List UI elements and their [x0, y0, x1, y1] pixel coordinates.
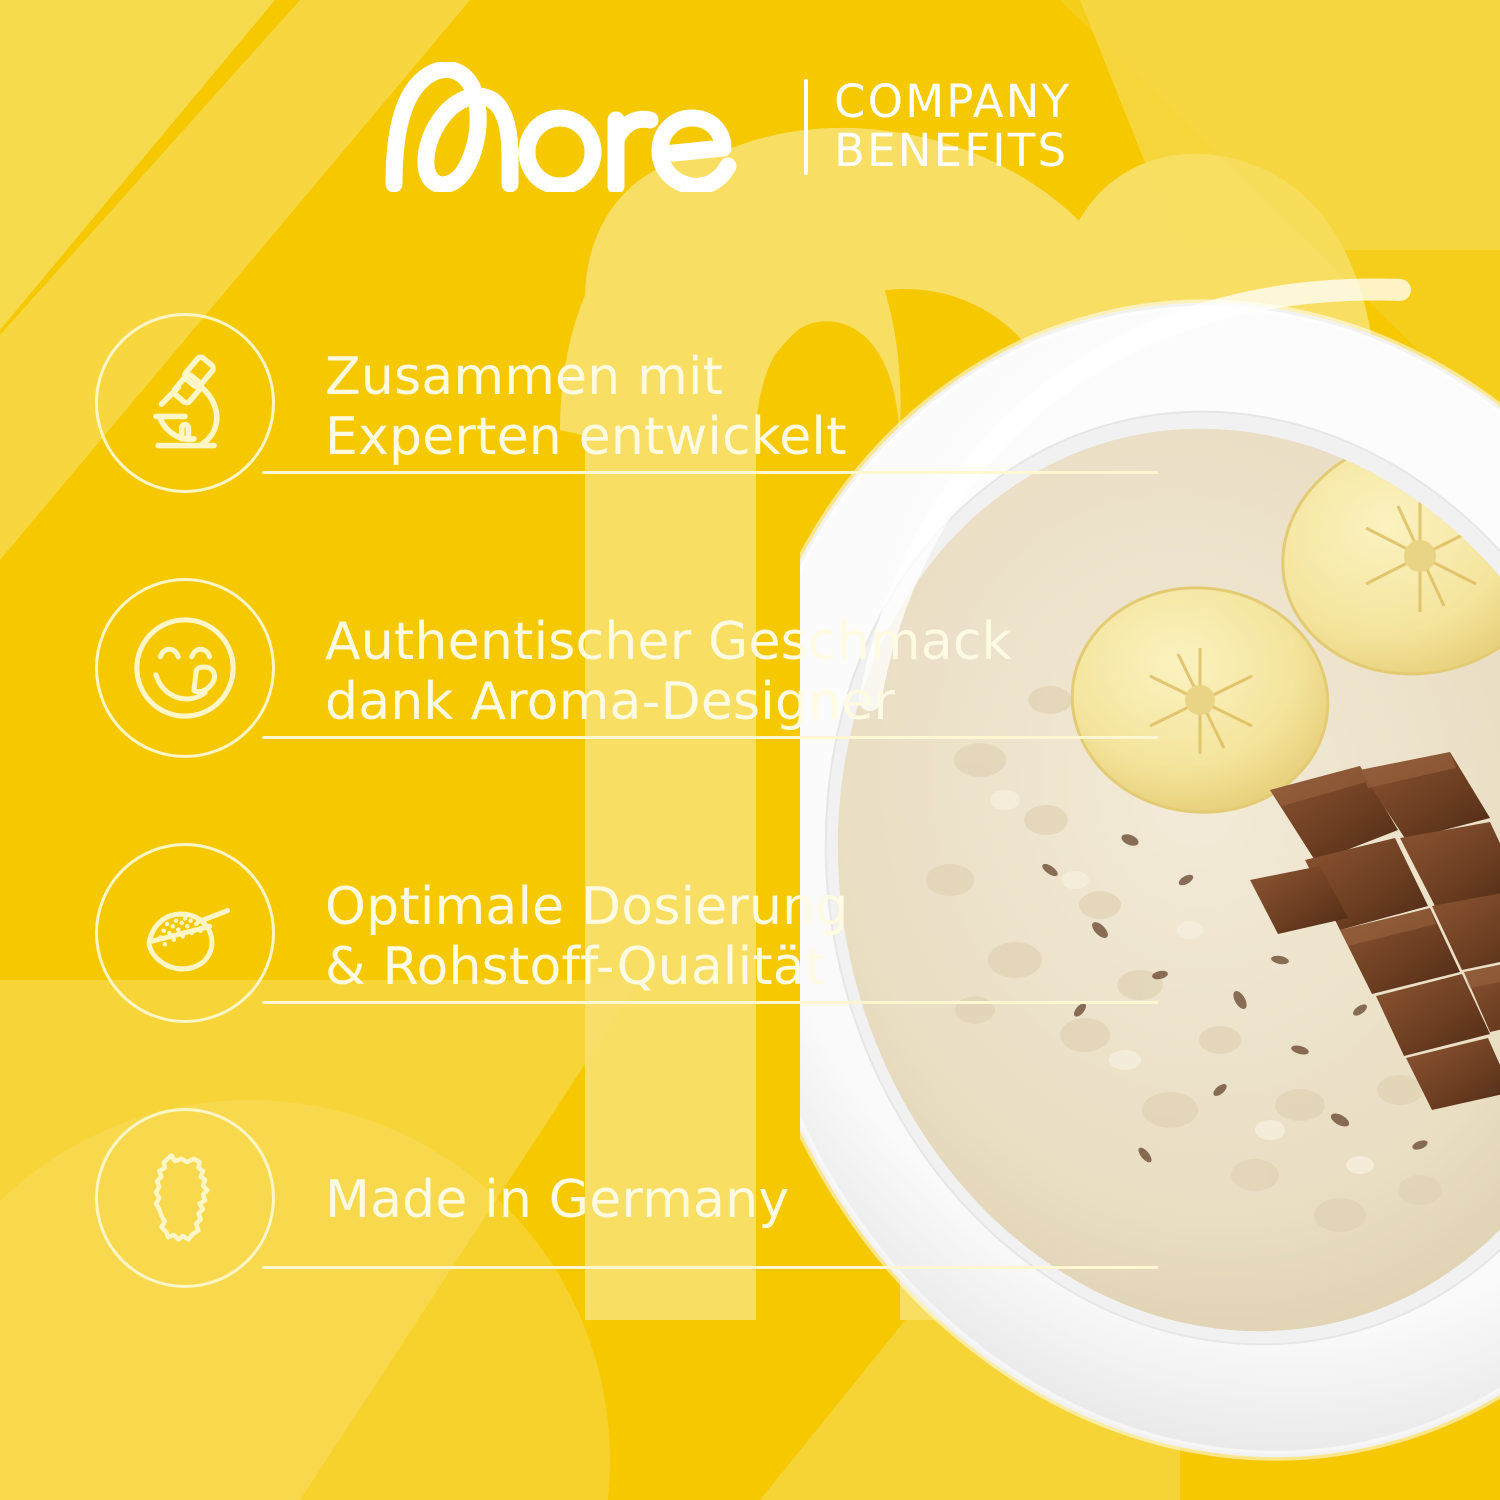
microscope-icon	[129, 347, 241, 459]
benefit-text-2-line2: dank Aroma-Designer	[325, 672, 1012, 732]
measuring-scoop-icon	[129, 877, 241, 989]
benefit-divider-3	[262, 1001, 1158, 1004]
infographic-canvas: COMPANY BENEFITS	[0, 0, 1500, 1500]
benefit-text-4: Made in Germany	[325, 1170, 789, 1230]
benefit-text-4-line1: Made in Germany	[325, 1170, 789, 1230]
benefit-icon-badge-2	[95, 578, 275, 758]
benefit-text-1: Zusammen mit Experten entwickelt	[325, 347, 847, 468]
benefit-text-2-line1: Authentischer Geschmack	[325, 612, 1012, 672]
benefit-divider-1	[262, 471, 1158, 474]
benefit-icon-badge-3	[95, 843, 275, 1023]
benefit-text-3-line2: & Rohstoff-Qualität	[325, 937, 849, 997]
logo-subtitle-line2: BENEFITS	[834, 127, 1071, 176]
logo-subtitle: COMPANY BENEFITS	[834, 78, 1071, 175]
benefit-divider-2	[262, 736, 1158, 739]
benefit-text-3: Optimale Dosierung & Rohstoff-Qualität	[325, 877, 849, 998]
benefit-divider-4	[262, 1266, 1158, 1269]
more-wordmark-icon	[378, 62, 778, 192]
benefit-text-2: Authentischer Geschmack dank Aroma-Desig…	[325, 612, 1012, 733]
benefits-list: Zusammen mit Experten entwickelt	[0, 0, 1500, 1500]
germany-map-icon	[129, 1142, 241, 1254]
benefit-icon-badge-1	[95, 313, 275, 493]
logo-subtitle-line1: COMPANY	[834, 78, 1071, 127]
benefit-text-1-line2: Experten entwickelt	[325, 407, 847, 467]
brand-logo: COMPANY BENEFITS	[378, 62, 1071, 192]
smiley-tongue-icon	[129, 612, 241, 724]
benefit-text-1-line1: Zusammen mit	[325, 347, 723, 407]
logo-divider-rule	[804, 79, 808, 175]
benefit-text-3-line1: Optimale Dosierung	[325, 877, 849, 937]
benefit-icon-badge-4	[95, 1108, 275, 1288]
